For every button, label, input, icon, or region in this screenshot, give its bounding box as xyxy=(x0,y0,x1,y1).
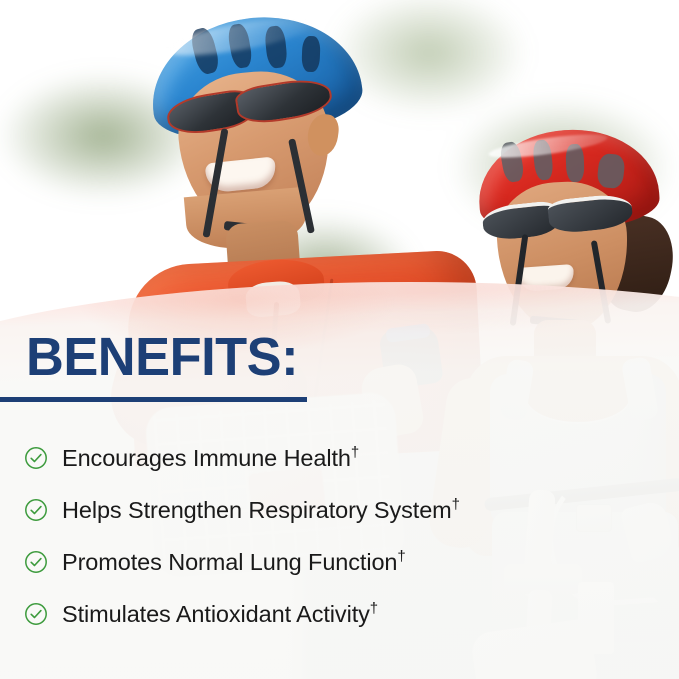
benefit-label: Encourages Immune Health† xyxy=(62,445,359,472)
benefits-list: Encourages Immune Health† Helps Strength… xyxy=(24,432,584,640)
check-circle-icon xyxy=(24,550,48,574)
list-item: Stimulates Antioxidant Activity† xyxy=(24,588,584,640)
list-item: Helps Strengthen Respiratory System† xyxy=(24,484,584,536)
promo-banner: BENEFITS: Encourages Immune Health† Help… xyxy=(0,0,679,679)
dagger-symbol: † xyxy=(370,600,378,617)
check-circle-icon xyxy=(24,446,48,470)
benefit-text: Encourages Immune Health xyxy=(62,445,351,471)
check-circle-icon xyxy=(24,498,48,522)
benefit-label: Stimulates Antioxidant Activity† xyxy=(62,601,378,628)
dagger-symbol: † xyxy=(351,444,359,461)
dagger-symbol: † xyxy=(452,496,460,513)
benefit-label: Promotes Normal Lung Function† xyxy=(62,549,406,576)
list-item: Promotes Normal Lung Function† xyxy=(24,536,584,588)
page-title: BENEFITS: xyxy=(26,330,298,384)
list-item: Encourages Immune Health† xyxy=(24,432,584,484)
content-layer: BENEFITS: Encourages Immune Health† Help… xyxy=(0,0,679,679)
dagger-symbol: † xyxy=(397,548,405,565)
title-underline xyxy=(0,397,307,402)
check-circle-icon xyxy=(24,602,48,626)
benefit-text: Promotes Normal Lung Function xyxy=(62,549,397,575)
benefit-text: Stimulates Antioxidant Activity xyxy=(62,601,370,627)
benefit-label: Helps Strengthen Respiratory System† xyxy=(62,497,460,524)
benefit-text: Helps Strengthen Respiratory System xyxy=(62,497,452,523)
